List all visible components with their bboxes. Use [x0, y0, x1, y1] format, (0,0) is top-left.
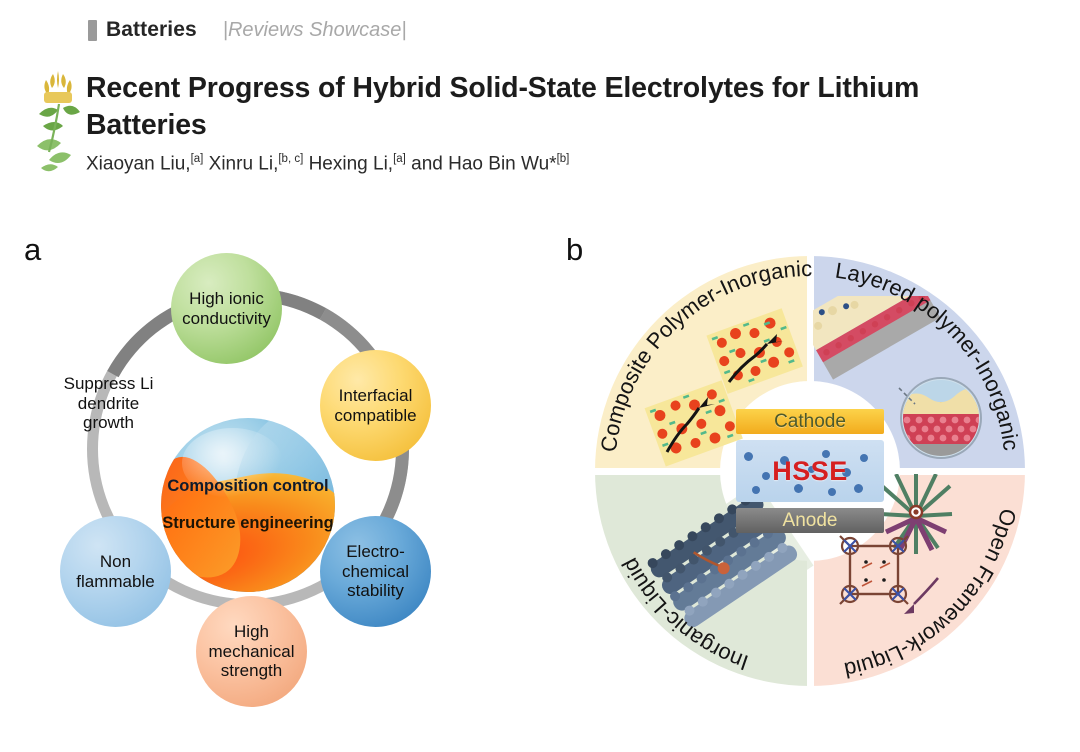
- li-ion-dot: [762, 472, 770, 480]
- author-1-name: Xinru Li,: [209, 153, 279, 174]
- author-3-affiliation: [b]: [557, 153, 570, 165]
- li-ion-dot: [752, 486, 760, 494]
- li-ion-dot: [744, 452, 753, 461]
- core-text-group: Composition control Structure engineerin…: [161, 418, 335, 592]
- bubble-suppress-li-dendrite-growth[interactable]: Suppress Li dendrite growth: [53, 348, 164, 459]
- author-1-affiliation: [b, c]: [278, 153, 303, 165]
- bubble-non-flammable[interactable]: Non flammable: [60, 516, 171, 627]
- hsse-electrolyte-layer: HSSE: [736, 440, 884, 502]
- author-0-affiliation: [a]: [191, 153, 204, 165]
- core-line-composition-control: Composition control: [167, 477, 328, 496]
- author-2-affiliation: [a]: [393, 153, 406, 165]
- quadrant-wheel: Composite Polymer-Inorganic Layered poly…: [595, 256, 1025, 686]
- hsse-label: HSSE: [772, 456, 848, 487]
- bubble-electrochemical-stability[interactable]: Electro- chemical stability: [320, 516, 431, 627]
- journal-kicker: Batteries |Reviews Showcase|: [88, 18, 407, 42]
- bubble-high-mechanical-strength[interactable]: High mechanical strength: [196, 596, 307, 707]
- bubble-label-interfacial: Interfacial compatible: [324, 386, 427, 426]
- core-sphere[interactable]: Composition control Structure engineerin…: [161, 418, 335, 592]
- author-2-name: Hexing Li,: [309, 153, 394, 174]
- battery-stack: Cathode HSSE Anode: [736, 392, 884, 550]
- li-ion-dot: [860, 454, 868, 462]
- bubble-label-flammable: Non flammable: [64, 552, 167, 592]
- li-ion-dot: [828, 488, 836, 496]
- page-title: Recent Progress of Hybrid Solid-State El…: [86, 70, 1026, 144]
- figure-panel-b: b: [560, 228, 1070, 738]
- cathode-label: Cathode: [774, 411, 846, 433]
- anode-layer: Anode: [736, 508, 884, 533]
- bubble-label-dendrite: Suppress Li dendrite growth: [57, 374, 160, 434]
- bubble-label-conductivity: High ionic conductivity: [175, 289, 278, 329]
- li-ion-dot: [854, 484, 863, 493]
- figure-panel-a: a High ionic conductivity Interfacial co…: [20, 228, 520, 738]
- author-3-name: and Hao Bin Wu*: [411, 153, 556, 174]
- kicker-bar-icon: [88, 20, 97, 41]
- author-0-name: Xiaoyan Liu,: [86, 153, 191, 174]
- bubble-high-ionic-conductivity[interactable]: High ionic conductivity: [171, 253, 282, 364]
- bubble-label-electro: Electro- chemical stability: [324, 542, 427, 602]
- panel-a-letter: a: [24, 234, 41, 265]
- core-line-structure-engineering: Structure engineering: [162, 514, 333, 533]
- author-list: Xiaoyan Liu,[a] Xinru Li,[b, c] Hexing L…: [86, 152, 1026, 177]
- bubble-label-mechanical: High mechanical strength: [200, 622, 303, 682]
- article-header: Batteries |Reviews Showcase| Recent Prog…: [0, 0, 1080, 210]
- wheat-leaf-emblem-icon: [33, 68, 85, 178]
- anode-label: Anode: [783, 510, 838, 532]
- showcase-tag: |Reviews Showcase|: [223, 19, 407, 42]
- journal-name: Batteries: [106, 18, 197, 42]
- panel-b-letter: b: [566, 234, 583, 265]
- bubble-interfacial-compatible[interactable]: Interfacial compatible: [320, 350, 431, 461]
- cathode-layer: Cathode: [736, 409, 884, 434]
